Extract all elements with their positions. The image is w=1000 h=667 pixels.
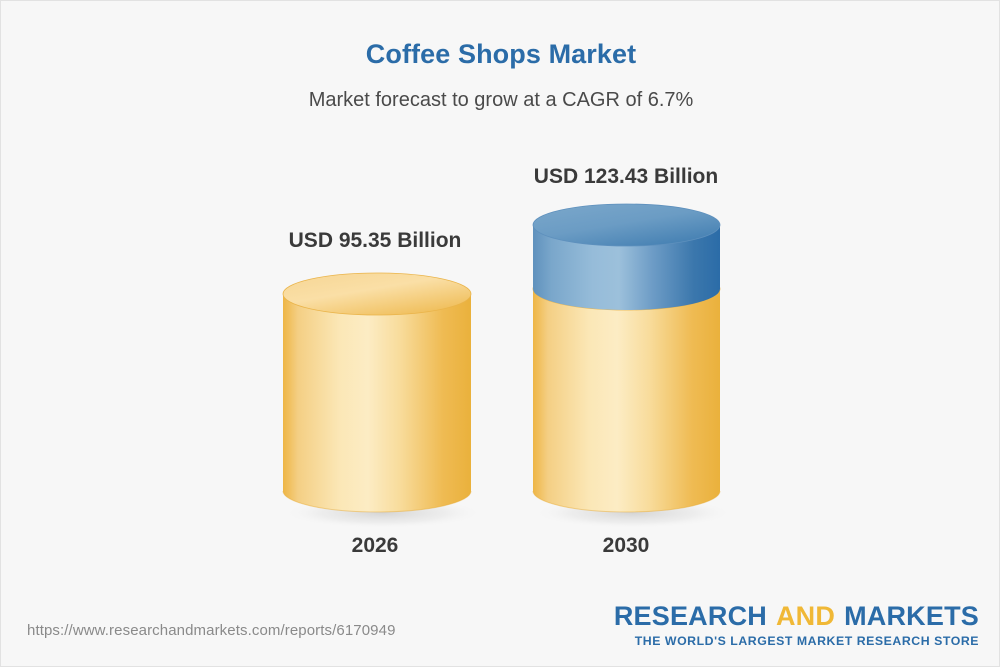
logo-word-research: RESEARCH	[614, 601, 767, 631]
chart-card: Coffee Shops Market Market forecast to g…	[0, 0, 1000, 667]
bar-category-label-2030: 2030	[466, 534, 786, 558]
logo-wordmark: RESEARCHANDMARKETS	[614, 603, 979, 630]
report-url[interactable]: https://www.researchandmarkets.com/repor…	[27, 622, 396, 639]
bar-cylinder-2030	[1, 1, 1000, 601]
logo-word-and: AND	[776, 601, 835, 631]
research-and-markets-logo: RESEARCHANDMARKETS THE WORLD'S LARGEST M…	[614, 603, 979, 647]
bar-group-2030: USD 123.43 Billion	[1, 1, 1000, 601]
chart-plot-area: USD 95.35 Billion	[1, 1, 1000, 601]
logo-tagline: THE WORLD'S LARGEST MARKET RESEARCH STOR…	[614, 635, 979, 647]
logo-word-markets: MARKETS	[844, 601, 979, 631]
